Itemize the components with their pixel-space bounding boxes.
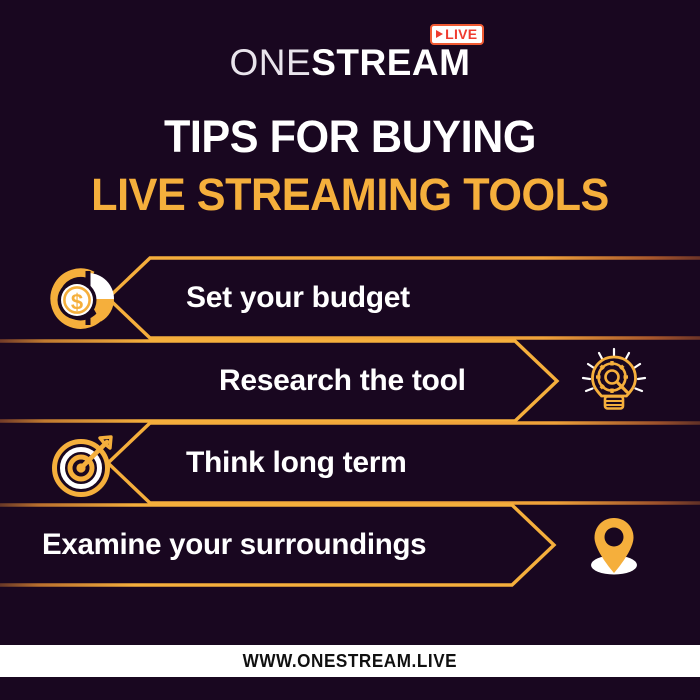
tip-row-3[interactable]: Think long term: [0, 418, 700, 508]
footer-website-bar[interactable]: WWW.ONESTREAM.LIVE: [0, 645, 700, 677]
live-badge: LIVE: [430, 24, 484, 45]
headline-line-1: TIPS FOR BUYING: [14, 108, 686, 166]
headline-line-2: LIVE STREAMING TOOLS: [14, 166, 686, 224]
poster-canvas: ONESTREAM LIVE TIPS FOR BUYING LIVE STRE…: [0, 0, 700, 700]
brand-logo[interactable]: ONESTREAM LIVE: [0, 44, 700, 92]
tip-row-4[interactable]: Examine your surroundings: [0, 500, 700, 590]
svg-text:$: $: [71, 290, 83, 315]
play-triangle-icon: [436, 30, 443, 38]
logo-inner: ONESTREAM LIVE: [230, 44, 471, 81]
location-pin-icon: [578, 510, 650, 582]
tip-label-4: Examine your surroundings: [42, 500, 426, 590]
tip-label-2: Research the tool: [219, 336, 466, 426]
tip-row-1[interactable]: Set your budget $: [0, 253, 700, 343]
logo-wordmark: ONESTREAM: [230, 42, 471, 83]
lightbulb-gear-search-icon: [578, 346, 650, 418]
logo-one-text: ONE: [230, 42, 312, 83]
budget-pie-dollar-icon: $: [48, 263, 120, 335]
tip-label-3: Think long term: [186, 418, 407, 508]
footer-website-text: WWW.ONESTREAM.LIVE: [243, 651, 458, 672]
target-arrow-icon: [48, 428, 120, 500]
page-title: TIPS FOR BUYING LIVE STREAMING TOOLS: [0, 108, 700, 223]
tip-row-2[interactable]: Research the tool: [0, 336, 700, 426]
tip-label-1: Set your budget: [186, 253, 410, 343]
live-badge-label: LIVE: [445, 27, 477, 41]
logo-stream-text: STREAM: [311, 42, 470, 83]
